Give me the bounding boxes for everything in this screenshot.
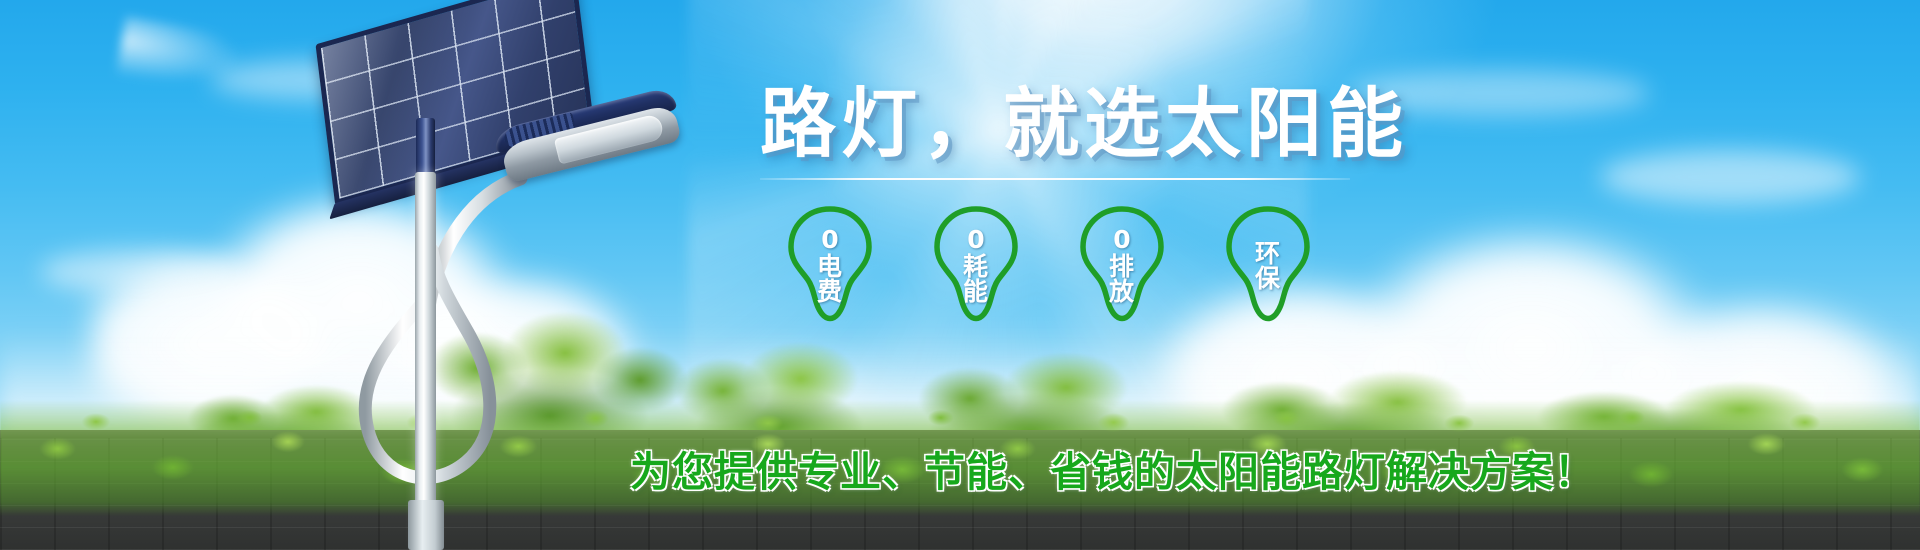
badge-word-char: 能: [963, 279, 989, 305]
solar-street-light-banner: 路灯，就选太阳能 0 电 费: [0, 0, 1920, 550]
solar-panel-mast: [416, 118, 435, 178]
badge-zero: 0: [821, 227, 838, 253]
badge-text: 0 排 放: [1109, 227, 1135, 305]
badge-word: 电 费: [817, 254, 843, 305]
feature-badge-electricity-cost: 0 电 费: [778, 204, 882, 328]
badge-word-char: 环: [1255, 241, 1281, 267]
badge-text: 0 电 费: [817, 227, 843, 305]
lamp-pole-base: [408, 500, 444, 550]
lamp-pole: [415, 172, 436, 550]
feature-badge-eco-friendly: 环 保: [1216, 204, 1320, 328]
feature-badge-emissions: 0 排 放: [1070, 204, 1174, 328]
badge-word-char: 耗: [963, 254, 989, 280]
badge-zero: 0: [1113, 227, 1130, 253]
badge-word-char: 费: [817, 279, 843, 305]
badge-word-char: 排: [1109, 254, 1135, 280]
badge-word: 环 保: [1255, 241, 1281, 292]
tagline: 为您提供专业、节能、省钱的太阳能路灯解决方案！: [630, 438, 1596, 498]
badge-zero: 0: [967, 227, 984, 253]
banner-copy: 路灯，就选太阳能 0 电 费: [760, 86, 1770, 506]
headline: 路灯，就选太阳能: [760, 86, 1770, 162]
feature-badge-list: 0 电 费 0 耗 能: [760, 204, 1770, 328]
headline-divider: [760, 178, 1350, 180]
badge-word-char: 电: [817, 254, 843, 280]
badge-word: 耗 能: [963, 254, 989, 305]
feature-badge-energy-consumption: 0 耗 能: [924, 204, 1028, 328]
badge-word: 排 放: [1109, 254, 1135, 305]
badge-word-char: 保: [1255, 266, 1281, 292]
badge-word-char: 放: [1109, 279, 1135, 305]
badge-text: 0 耗 能: [963, 227, 989, 305]
badge-text: 环 保: [1255, 241, 1281, 292]
